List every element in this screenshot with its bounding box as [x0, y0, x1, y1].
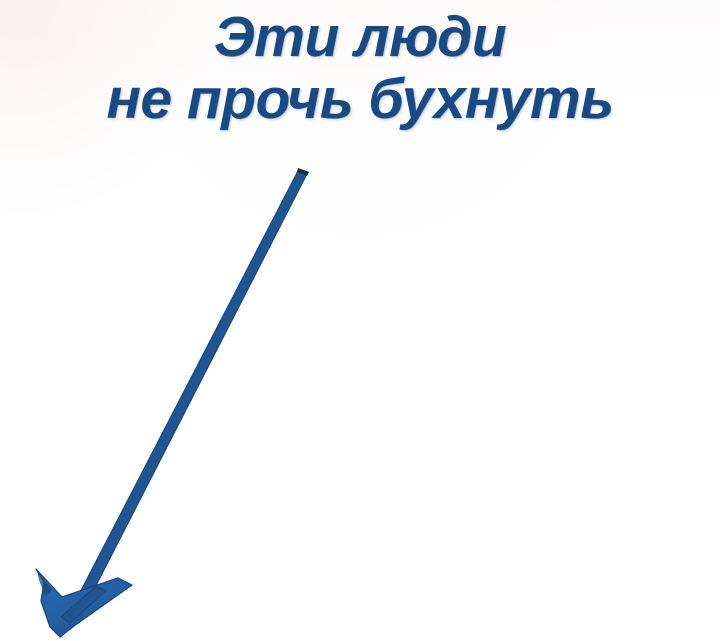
arrow-shaft — [74, 169, 308, 609]
arrow-head — [36, 569, 132, 637]
caption-line-2: не прочь бухнуть — [0, 70, 720, 128]
arrow-head-left-barb-shade — [37, 571, 52, 596]
arrow-shaft-top-cut — [297, 168, 309, 176]
caption-line-1: Эти люди — [0, 8, 720, 66]
caption-block: Эти люди не прочь бухнуть — [0, 8, 720, 128]
meme-canvas: Эти люди не прочь бухнуть — [0, 0, 720, 641]
arrow-shaft-overlap — [61, 586, 106, 623]
